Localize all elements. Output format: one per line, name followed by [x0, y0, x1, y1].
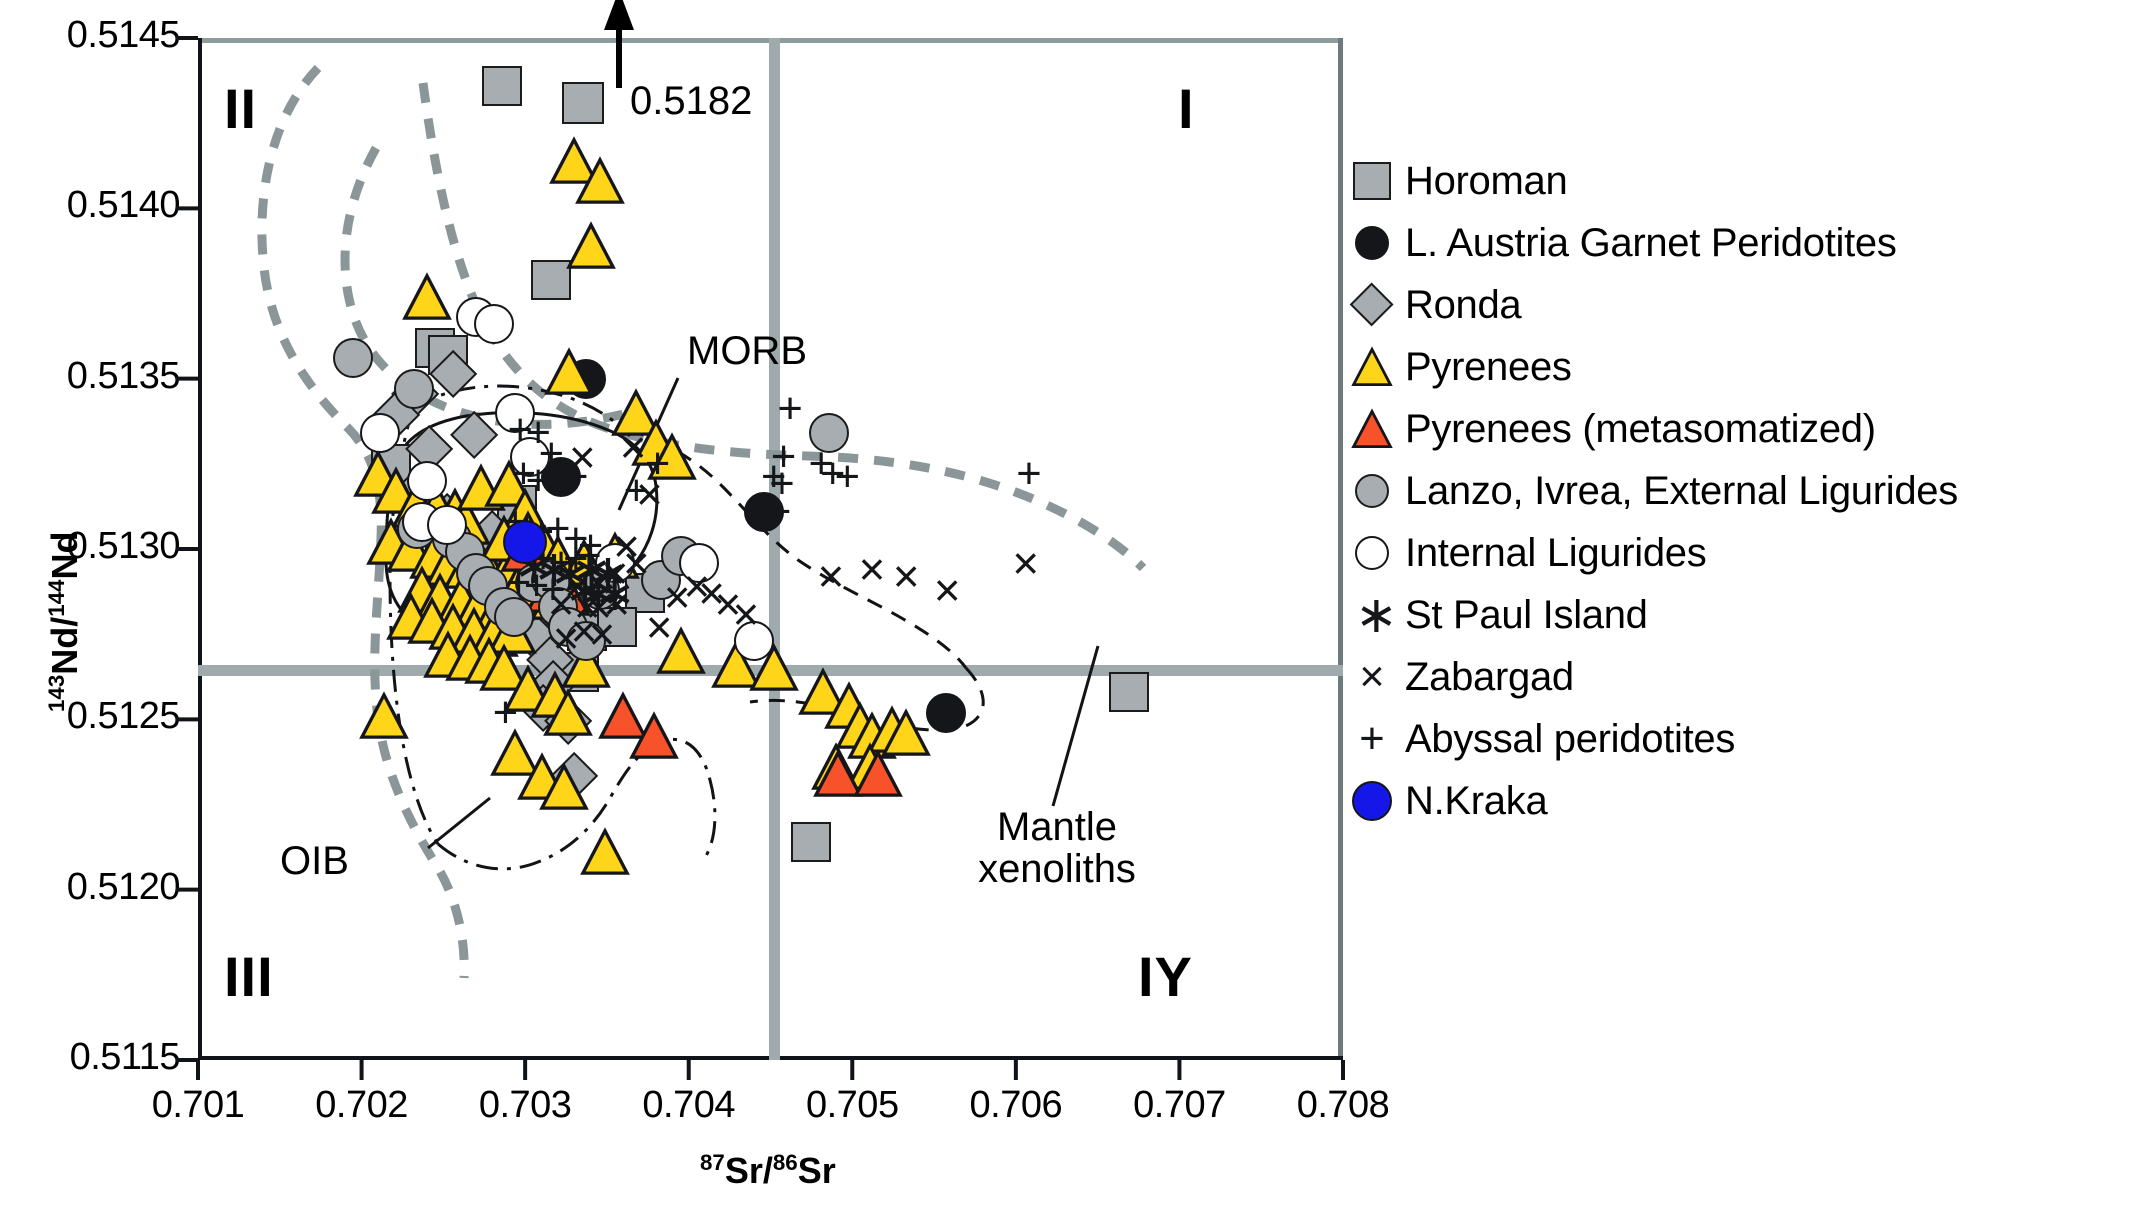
legend-item[interactable]: Horoman: [1345, 150, 2135, 212]
data-point: [868, 706, 916, 754]
data-point: [545, 348, 593, 396]
data-point: [360, 692, 408, 740]
data-point: ∗: [570, 552, 604, 586]
quadrant-label-2: II: [224, 76, 257, 141]
data-point: [501, 525, 549, 573]
data-point: +: [773, 392, 807, 426]
data-point: [408, 597, 456, 645]
data-point: ×: [609, 528, 645, 564]
data-point: ×: [618, 545, 654, 581]
legend-symbol-icon: [1345, 216, 1399, 270]
legend-item-label: N.Kraka: [1405, 779, 1547, 824]
data-point: [450, 607, 498, 655]
data-point: +: [804, 447, 838, 481]
data-point: ∗: [587, 556, 621, 590]
data-point: [495, 562, 543, 610]
data-point: [809, 413, 849, 453]
legend-symbol-icon: [1345, 464, 1399, 518]
data-point: ×: [679, 568, 715, 604]
x-axis-title-base2: Sr: [798, 1150, 836, 1191]
data-point: ×: [581, 589, 617, 625]
data-point: [488, 607, 536, 655]
data-point: ∗: [533, 552, 567, 586]
data-point: [504, 665, 552, 713]
data-point: [630, 712, 678, 760]
data-point: [387, 593, 435, 641]
data-point: [495, 393, 535, 433]
data-point: [520, 546, 560, 586]
data-point: [540, 763, 588, 811]
data-point: [410, 532, 458, 580]
data-point: [531, 573, 579, 621]
data-point: ×: [694, 575, 730, 611]
data-point: [542, 569, 590, 617]
legend-item[interactable]: L. Austria Garnet Peridotites: [1345, 212, 2135, 274]
data-point: [543, 697, 592, 746]
data-point: [485, 460, 533, 508]
data-point: [544, 689, 592, 737]
data-point: [576, 157, 624, 205]
data-point: +: [619, 474, 653, 508]
data-point: [394, 369, 434, 409]
data-point: [484, 587, 524, 627]
y-axis-title-sup1: 143: [44, 675, 69, 712]
data-point: [538, 587, 578, 627]
legend-item[interactable]: Pyrenees: [1345, 336, 2135, 398]
data-point: [812, 743, 860, 791]
data-point: [372, 467, 420, 515]
data-point: [562, 641, 610, 689]
legend-item-label: Pyrenees: [1405, 345, 1572, 390]
data-point: +: [503, 413, 537, 447]
legend-symbol-icon: ∗: [1345, 588, 1399, 642]
data-point: [504, 511, 552, 559]
data-point: [424, 631, 472, 679]
data-point: [480, 515, 528, 563]
data-point: [404, 425, 453, 474]
data-point: +: [767, 440, 801, 474]
data-point: ×: [641, 609, 677, 645]
data-point: [360, 413, 400, 453]
legend: HoromanL. Austria Garnet PeridotitesRond…: [1345, 150, 2135, 832]
isotope-scatter-figure: ∗∗∗∗∗∗∗∗××××××××××××××××××××××××××++++++…: [0, 0, 2143, 1217]
y-tick-label: 0.5140: [56, 184, 180, 227]
legend-symbol-icon: [1345, 278, 1399, 332]
data-point: [534, 535, 582, 583]
y-tick-label: 0.5135: [56, 355, 180, 398]
x-tick-label: 0.704: [599, 1084, 779, 1127]
data-point: [712, 641, 760, 689]
data-point: ∗: [593, 576, 627, 610]
data-point: [497, 485, 537, 525]
y-tick-label: 0.5115: [56, 1036, 180, 1079]
mantle-xenoliths-line2: xenoliths: [978, 847, 1136, 891]
data-point: +: [521, 464, 555, 498]
data-point: [799, 668, 847, 716]
data-point: [559, 652, 599, 692]
data-point: [567, 222, 615, 270]
legend-item[interactable]: ∗St Paul Island: [1345, 584, 2135, 646]
data-point: [426, 539, 474, 587]
data-point: [468, 510, 517, 559]
plot-area: ∗∗∗∗∗∗∗∗××××××××××××××××××××××××××++++++…: [198, 38, 1343, 1060]
data-point: ∗: [513, 549, 547, 583]
legend-item-label: Pyrenees (metasomatized): [1405, 407, 1876, 452]
data-point: [425, 529, 465, 569]
legend-item[interactable]: +Abyssal peridotites: [1345, 708, 2135, 770]
data-point: +: [521, 416, 555, 450]
data-point: +: [498, 505, 532, 539]
mantle-xenoliths-label: Mantle xenoliths: [942, 806, 1172, 890]
data-point: [648, 433, 696, 481]
data-point: +: [526, 542, 560, 576]
data-point: +: [502, 566, 536, 600]
data-point: [392, 481, 440, 529]
data-point: ×: [599, 586, 635, 622]
data-point: [475, 583, 523, 631]
data-point: [416, 573, 464, 621]
data-point: [814, 750, 862, 798]
data-point: ×: [564, 439, 600, 475]
data-point: [480, 644, 528, 692]
data-point: ×: [559, 568, 595, 604]
data-point: [511, 573, 559, 621]
data-point: [456, 297, 496, 337]
data-point: [428, 335, 468, 375]
data-point: [566, 621, 606, 661]
legend-symbol-icon: [1345, 402, 1399, 456]
data-point: ×: [543, 586, 579, 622]
data-point: ×: [569, 589, 605, 625]
data-point: [480, 547, 529, 596]
data-point: [580, 570, 620, 610]
data-point: ×: [659, 579, 695, 615]
oib-label: OIB: [280, 840, 349, 882]
data-point: [854, 750, 902, 798]
legend-symbol-icon: [1345, 340, 1399, 394]
data-point: [519, 683, 568, 732]
legend-item[interactable]: Internal Ligurides: [1345, 522, 2135, 584]
data-point: [657, 627, 705, 675]
legend-symbol-icon: ×: [1345, 650, 1399, 704]
data-markers-layer: ∗∗∗∗∗∗∗∗××××××××××××××××××××××××××++++++…: [198, 38, 1343, 1060]
legend-item[interactable]: Lanzo, Ivrea, External Ligurides: [1345, 460, 2135, 522]
data-point: [446, 634, 494, 682]
data-point: +: [816, 457, 850, 491]
mantle-xenoliths-line1: Mantle: [997, 805, 1117, 849]
data-point: [521, 525, 569, 573]
data-point: [465, 637, 513, 685]
x-tick-label: 0.707: [1089, 1084, 1269, 1127]
data-point: +: [572, 539, 606, 573]
data-point: [371, 444, 411, 484]
data-point: [413, 484, 461, 532]
data-point: [445, 532, 485, 572]
data-point: ∗: [564, 573, 598, 607]
data-point: [431, 488, 479, 536]
data-point: +: [641, 447, 675, 481]
data-point: [848, 712, 896, 760]
data-point: [470, 610, 518, 658]
data-point: [550, 752, 599, 801]
data-point: [836, 702, 884, 750]
data-point: +: [559, 542, 593, 576]
y-tick-label: 0.5145: [56, 14, 180, 57]
x-axis-title-sup1: 87: [700, 1150, 725, 1175]
legend-symbol-icon: [1345, 774, 1399, 828]
data-point: [391, 370, 440, 419]
data-point: [641, 560, 681, 600]
data-point: +: [830, 460, 864, 494]
data-point: [427, 505, 467, 545]
data-point: [422, 493, 471, 542]
data-point: ×: [813, 558, 849, 594]
data-point: [531, 260, 571, 300]
data-point: [734, 621, 774, 661]
data-point: [490, 532, 530, 572]
data-point: [333, 338, 373, 378]
data-point: [456, 553, 496, 593]
data-point: [791, 822, 831, 862]
data-point: +: [507, 457, 541, 491]
data-point: [846, 743, 894, 791]
legend-symbol-icon: [1345, 154, 1399, 208]
data-point: ×: [631, 476, 667, 512]
data-point: [632, 419, 680, 467]
data-point: +: [762, 495, 796, 529]
data-point: [515, 563, 555, 603]
data-point: [1109, 672, 1149, 712]
data-point: [429, 603, 477, 651]
data-point: [744, 492, 784, 532]
data-point: ×: [728, 596, 764, 632]
data-point: +: [510, 512, 544, 546]
data-point: +: [489, 696, 523, 730]
data-point: +: [1012, 457, 1046, 491]
data-point: [501, 488, 549, 536]
data-point: ×: [548, 620, 584, 656]
data-point: [432, 519, 472, 559]
data-point: [491, 729, 539, 777]
data-point: [531, 560, 571, 600]
x-tick-label: 0.702: [272, 1084, 452, 1127]
x-tick-label: 0.705: [762, 1084, 942, 1127]
data-point: [541, 457, 581, 497]
data-point: [581, 828, 629, 876]
legend-item-label: L. Austria Garnet Peridotites: [1405, 221, 1897, 266]
legend-item[interactable]: N.Kraka: [1345, 770, 2135, 832]
x-axis-title: 87Sr/86Sr: [700, 1150, 836, 1192]
data-point: [482, 66, 522, 106]
data-point: +: [539, 464, 573, 498]
data-point: [455, 580, 503, 628]
data-point: [450, 411, 499, 460]
data-point: [591, 532, 639, 580]
data-point: [372, 390, 421, 439]
data-point: [442, 498, 490, 546]
quadrant-label-4: IY: [1138, 944, 1193, 1009]
x-axis-title-sup2: 86: [773, 1150, 798, 1175]
legend-item-label: St Paul Island: [1405, 593, 1648, 638]
data-point: [415, 328, 455, 368]
data-point: ×: [888, 558, 924, 594]
data-point: [882, 709, 930, 757]
data-point: +: [574, 529, 608, 563]
data-point: [437, 576, 485, 624]
y-axis-title-base1: Nd/: [44, 617, 85, 675]
data-point: [510, 437, 550, 477]
morb-label: MORB: [687, 330, 807, 372]
data-point: [612, 389, 660, 437]
data-point: [387, 525, 435, 573]
data-point: [457, 464, 505, 512]
data-point: [825, 682, 873, 730]
data-point: [661, 536, 701, 576]
data-point: ×: [584, 616, 620, 652]
y-axis-title-base2: Nd: [44, 532, 85, 580]
legend-symbol-icon: [1345, 526, 1399, 580]
data-point: [354, 450, 402, 498]
data-point: [444, 542, 492, 590]
y-axis-title: 143Nd/144Nd: [44, 532, 86, 712]
data-point: [494, 574, 543, 623]
x-tick-label: 0.701: [108, 1084, 288, 1127]
x-tick-label: 0.706: [926, 1084, 1106, 1127]
data-point: [526, 566, 574, 614]
data-point: [750, 644, 798, 692]
data-point: [525, 636, 574, 685]
data-point: [403, 273, 451, 321]
data-point: [407, 461, 447, 501]
quadrant-label-3: III: [224, 944, 274, 1009]
data-point: [531, 671, 579, 719]
legend-item-label: Abyssal peridotites: [1405, 717, 1735, 762]
data-point: ×: [581, 565, 617, 601]
legend-item-label: Lanzo, Ivrea, External Ligurides: [1405, 469, 1958, 514]
data-point: [468, 566, 508, 606]
data-point: [464, 545, 512, 593]
data-point: [560, 539, 608, 587]
data-point: +: [559, 460, 593, 494]
data-point: +: [520, 569, 554, 603]
data-point: +: [541, 512, 575, 546]
data-point: [926, 693, 966, 733]
data-point: +: [536, 573, 570, 607]
data-point: [395, 465, 444, 514]
y-tick-label: 0.5120: [56, 866, 180, 909]
data-point: [625, 573, 665, 613]
data-point: [499, 598, 548, 647]
data-point: [494, 597, 534, 637]
data-point: [398, 566, 446, 614]
data-point: [397, 509, 437, 549]
legend-item[interactable]: Ronda: [1345, 274, 2135, 336]
data-point: [518, 753, 566, 801]
data-point: [599, 692, 647, 740]
data-point: +: [559, 522, 593, 556]
data-point: ×: [710, 586, 746, 622]
data-point: [429, 350, 478, 399]
legend-item-label: Zabargad: [1405, 655, 1574, 700]
data-point: ×: [929, 572, 965, 608]
x-tick-label: 0.708: [1253, 1084, 1433, 1127]
data-point: ×: [1008, 545, 1044, 581]
data-point: ×: [597, 555, 633, 591]
data-point: ×: [854, 551, 890, 587]
data-point: +: [544, 546, 578, 580]
data-point: [566, 359, 606, 399]
data-point: [529, 660, 578, 709]
data-point: [482, 549, 530, 597]
data-point: +: [534, 437, 568, 471]
data-point: [548, 607, 588, 647]
legend-symbol-icon: +: [1345, 712, 1399, 766]
data-point: [402, 502, 442, 542]
data-point: ×: [566, 613, 602, 649]
x-tick-label: 0.703: [435, 1084, 615, 1127]
data-point: ∗: [549, 556, 583, 590]
data-point: +: [757, 460, 791, 494]
data-point: +: [765, 467, 799, 501]
quadrant-label-1: I: [1178, 76, 1195, 141]
offscale-value-label: 0.5182: [630, 80, 752, 122]
data-point: [595, 543, 635, 583]
data-point: [679, 543, 719, 583]
data-point: [512, 615, 561, 664]
data-point: [367, 518, 415, 566]
data-point: ×: [615, 429, 651, 465]
data-point: ∗: [577, 576, 611, 610]
data-point: [597, 607, 637, 647]
x-axis-title-base1: Sr/: [725, 1150, 773, 1191]
legend-item[interactable]: Pyrenees (metasomatized): [1345, 398, 2135, 460]
legend-item[interactable]: ×Zabargad: [1345, 646, 2135, 708]
data-point: +: [525, 515, 559, 549]
data-point: [550, 137, 598, 185]
y-axis-title-sup2: 144: [44, 580, 69, 617]
legend-item-label: Horoman: [1405, 159, 1567, 204]
data-point: [567, 611, 607, 651]
legend-item-label: Ronda: [1405, 283, 1521, 328]
data-point: [503, 520, 547, 564]
data-point: [474, 304, 514, 344]
legend-item-label: Internal Ligurides: [1405, 531, 1706, 576]
